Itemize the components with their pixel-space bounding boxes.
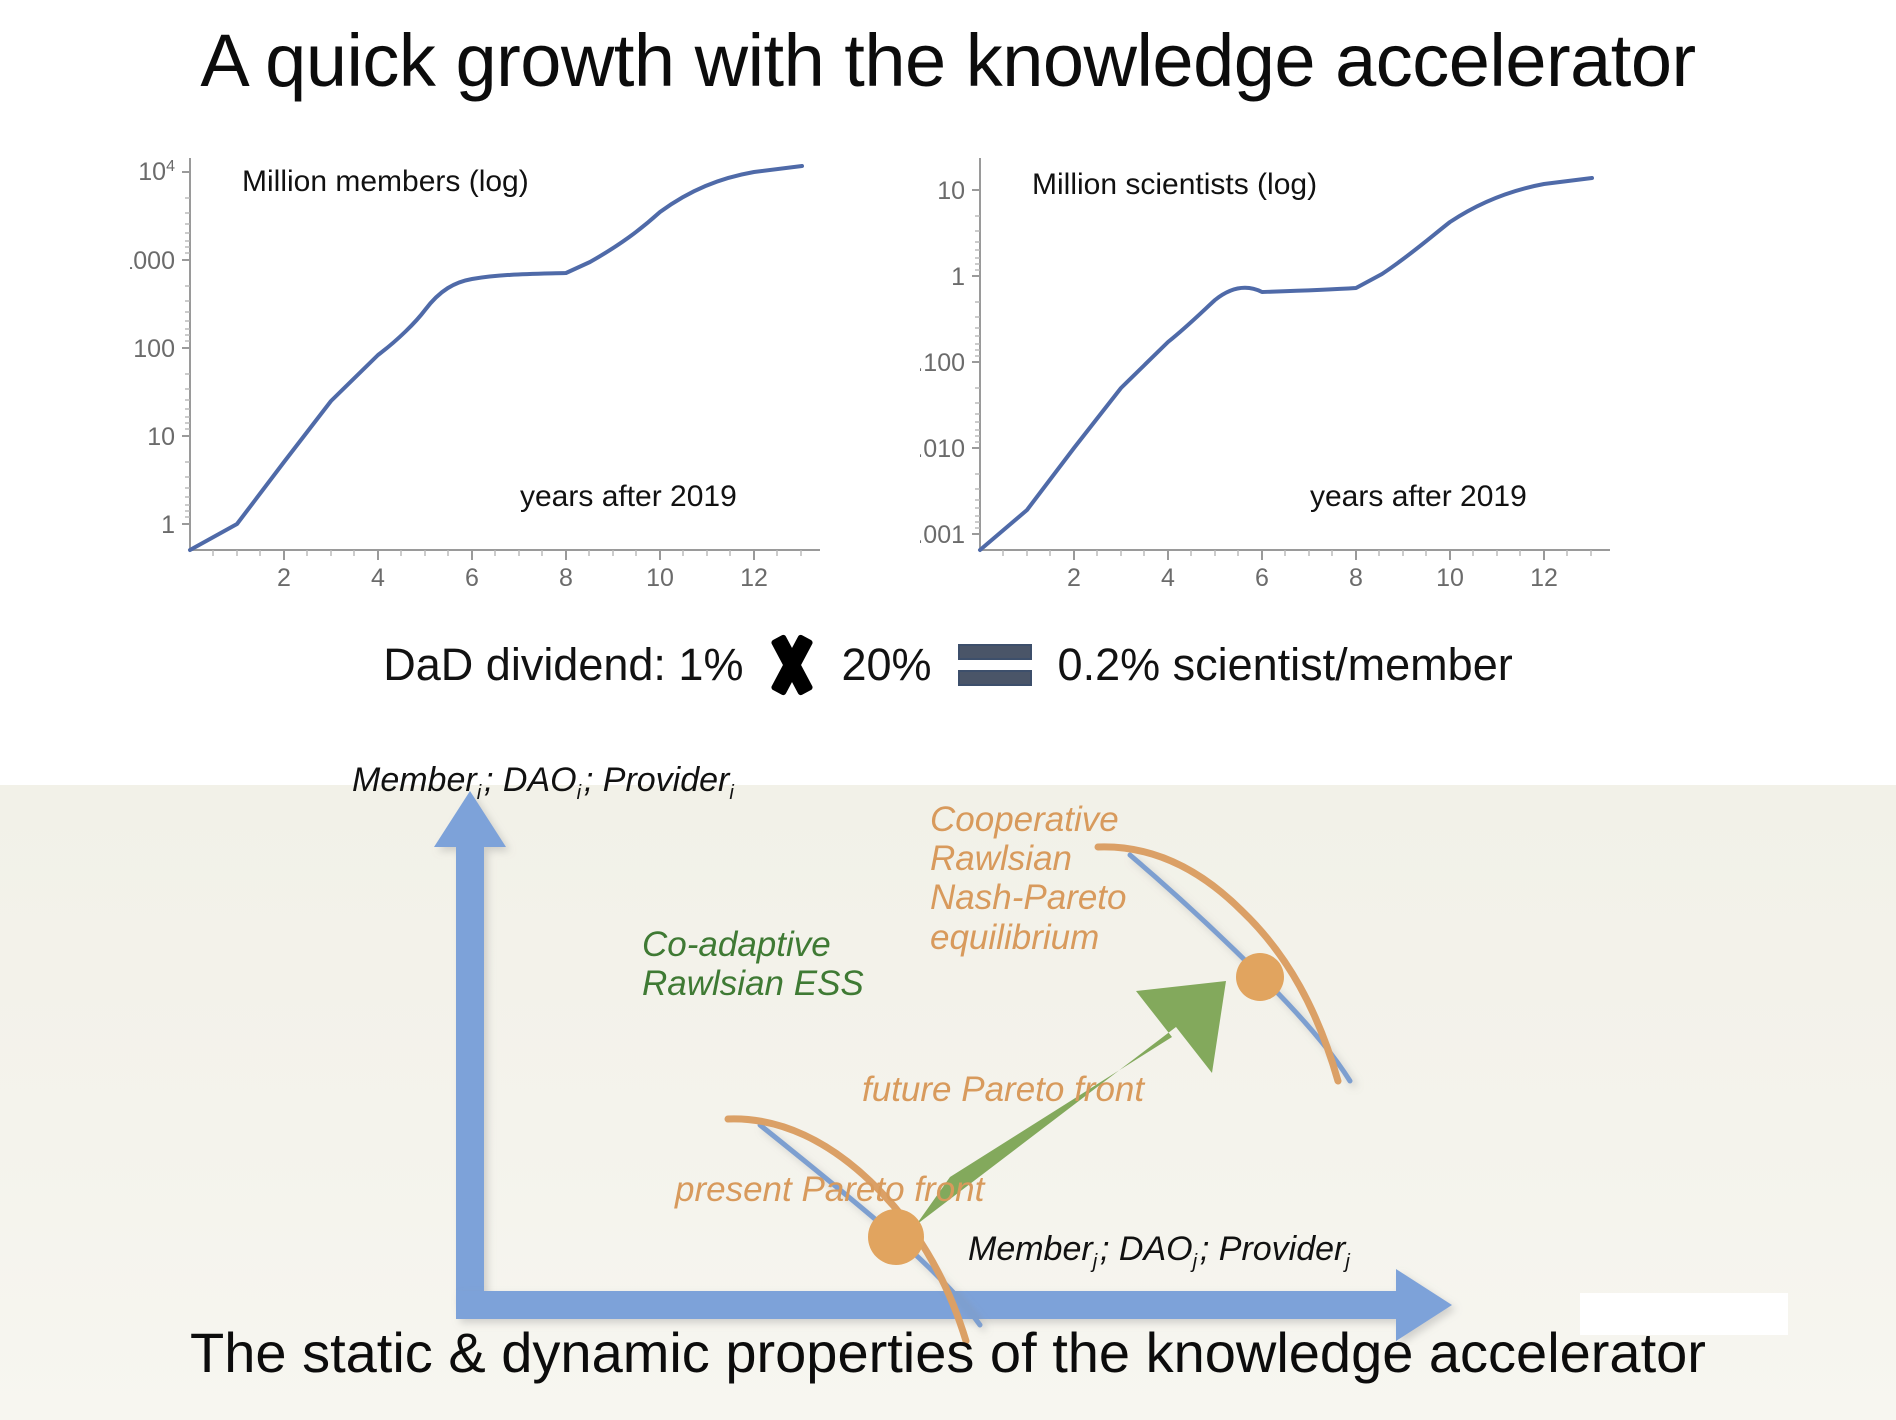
coop-line-2: Rawlsian [930, 839, 1126, 878]
members-ytick-10: 10 [147, 423, 175, 451]
present-equilibrium-node [868, 1209, 924, 1265]
coop-line-3: Nash-Pareto [930, 878, 1126, 917]
future-equilibrium-node [1236, 953, 1284, 1001]
cooperative-equilibrium-label: Cooperative Rawlsian Nash-Pareto equilib… [930, 800, 1126, 957]
scientists-ytick-0.010: 0.010 [920, 435, 965, 463]
members-xtick-10: 10 [646, 564, 674, 590]
formula-result: 0.2% scientist/member [1058, 639, 1513, 691]
members-chart-svg: 104 1000 100 10 1 2 4 6 8 10 12 [130, 150, 830, 590]
page-title: A quick growth with the knowledge accele… [0, 22, 1896, 100]
coop-line-1: Cooperative [930, 800, 1126, 839]
chart-million-members: 104 1000 100 10 1 2 4 6 8 10 12 Million … [130, 150, 830, 590]
scientists-ytick-1: 1 [951, 263, 965, 291]
scientists-ytick-0.001: 0.001 [920, 521, 965, 549]
scientists-xtick-8: 8 [1349, 564, 1363, 590]
chart-million-scientists: 10 1 0.100 0.010 0.001 2 4 6 8 10 12 Mil… [920, 150, 1620, 590]
scientists-xtick-6: 6 [1255, 564, 1269, 590]
members-xtick-2: 2 [277, 564, 291, 590]
future-pareto-front-label: future Pareto front [862, 1070, 1144, 1109]
formula-second-factor: 20% [841, 639, 931, 691]
scientists-xaxis-title: years after 2019 [1310, 480, 1527, 514]
pareto-x-axis-label: Memberj ; DAOj ; Providerj [968, 1230, 1350, 1274]
scientists-xtick-10: 10 [1436, 564, 1464, 590]
slide-root: A quick growth with the knowledge accele… [0, 0, 1896, 1420]
bottom-caption: The static & dynamic properties of the k… [0, 1320, 1896, 1385]
co-adaptive-ess-label: Co-adaptive Rawlsian ESS [642, 925, 864, 1003]
members-xtick-12: 12 [740, 564, 768, 590]
members-ytick-1: 1 [161, 511, 175, 539]
scientists-xtick-2: 2 [1067, 564, 1081, 590]
members-xtick-6: 6 [465, 564, 479, 590]
scientists-xtick-12: 12 [1530, 564, 1558, 590]
scientists-ytick-0.100: 0.100 [920, 349, 965, 377]
scientists-chart-svg: 10 1 0.100 0.010 0.001 2 4 6 8 10 12 [920, 150, 1620, 590]
y-axis-arrow [434, 791, 506, 1305]
members-y-major-ticks [182, 172, 190, 524]
members-ytick-100: 100 [133, 335, 175, 363]
equals-icon [958, 642, 1032, 688]
multiply-icon [765, 638, 819, 692]
members-xtick-4: 4 [371, 564, 385, 590]
scientists-ytick-10: 10 [937, 177, 965, 205]
ess-line-2: Rawlsian ESS [642, 964, 864, 1003]
ess-line-1: Co-adaptive [642, 925, 864, 964]
members-xaxis-title: years after 2019 [520, 480, 737, 514]
scientists-chart-title: Million scientists (log) [1032, 168, 1317, 202]
scientists-xtick-4: 4 [1161, 564, 1175, 590]
formula-prefix: DaD dividend: 1% [383, 639, 743, 691]
dad-dividend-formula: DaD dividend: 1% 20% 0.2% scientist/memb… [0, 638, 1896, 692]
members-xtick-8: 8 [559, 564, 573, 590]
members-chart-title: Million members (log) [242, 165, 529, 199]
coop-line-4: equilibrium [930, 918, 1126, 957]
present-pareto-front-label: present Pareto front [675, 1170, 984, 1209]
future-pareto-front-curve [1098, 847, 1338, 1081]
members-ytick-10000: 104 [138, 158, 175, 186]
pareto-y-axis-label: Memberi ; DAOi ; Provideri [352, 761, 734, 805]
members-ytick-1000: 1000 [130, 247, 175, 275]
